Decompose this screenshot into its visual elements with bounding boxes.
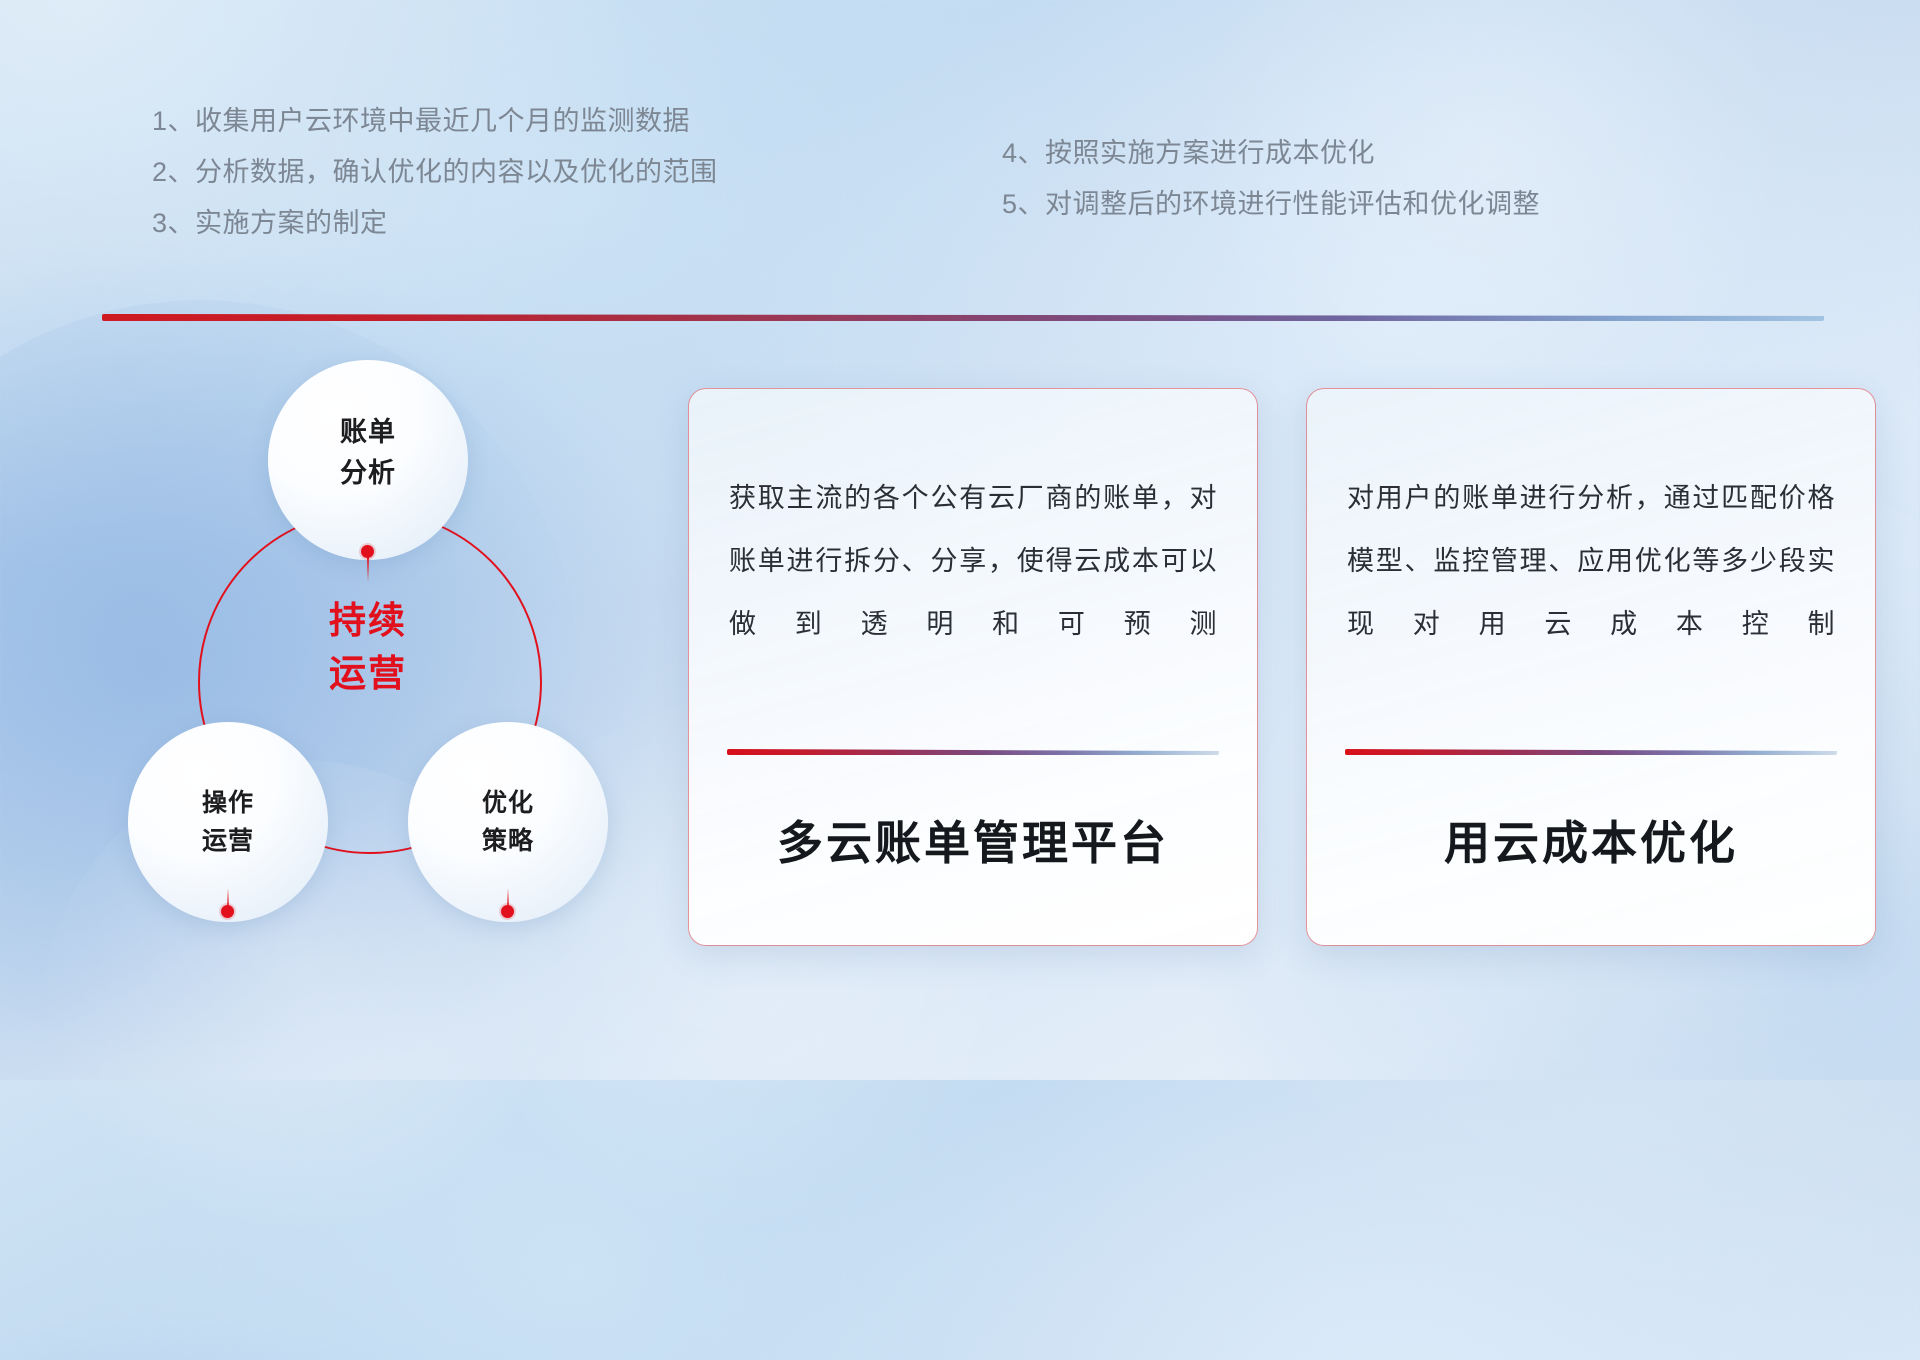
step-item-4: 4、按照实施方案进行成本优化 [1002, 128, 1540, 179]
node-label-line2: 运营 [202, 822, 254, 860]
card-cloud-cost-optimization[interactable]: 对用户的账单进行分析，通过匹配价格模型、监控管理、应用优化等多少段实现对用云成本… [1306, 388, 1876, 946]
node-label-line1: 操作 [202, 784, 254, 822]
node-label-line1: 优化 [482, 784, 534, 822]
steps-section: 1、收集用户云环境中最近几个月的监测数据 2、分析数据，确认优化的内容以及优化的… [0, 96, 1920, 246]
card-body-text: 对用户的账单进行分析，通过匹配价格模型、监控管理、应用优化等多少段实现对用云成本… [1347, 467, 1835, 656]
step-item-1: 1、收集用户云环境中最近几个月的监测数据 [152, 96, 718, 147]
diagram-node-label-bill-analysis: 账单 分析 [268, 378, 468, 528]
diagram-junction-dot-bottom-left [221, 905, 234, 918]
diagram-node-label-operation: 操作 运营 [128, 750, 328, 894]
node-label-line1: 账单 [340, 412, 396, 453]
card-divider [1345, 749, 1837, 755]
step-item-3: 3、实施方案的制定 [152, 198, 718, 249]
card-divider [727, 749, 1219, 755]
step-item-5: 5、对调整后的环境进行性能评估和优化调整 [1002, 179, 1540, 230]
card-multi-cloud-bill-platform[interactable]: 获取主流的各个公有云厂商的账单，对账单进行拆分、分享，使得云成本可以做到透明和可… [688, 388, 1258, 946]
section-divider [102, 314, 1824, 321]
diagram-node-label-optimization-strategy: 优化 策略 [408, 750, 608, 894]
step-item-2: 2、分析数据，确认优化的内容以及优化的范围 [152, 147, 718, 198]
card-body-text: 获取主流的各个公有云厂商的账单，对账单进行拆分、分享，使得云成本可以做到透明和可… [729, 467, 1217, 656]
diagram-center-label: 持续 运营 [268, 582, 468, 712]
continuous-operation-diagram: 持续 运营 账单 分析 操作 运营 优化 策略 [96, 360, 616, 930]
node-label-line2: 分析 [340, 453, 396, 494]
diagram-connector-top [367, 556, 369, 582]
diagram-junction-dot-bottom-right [501, 905, 514, 918]
steps-column-right: 4、按照实施方案进行成本优化 5、对调整后的环境进行性能评估和优化调整 [1002, 128, 1540, 230]
diagram-center-label-line2: 运营 [329, 647, 407, 700]
steps-column-left: 1、收集用户云环境中最近几个月的监测数据 2、分析数据，确认优化的内容以及优化的… [152, 96, 718, 249]
card-title: 多云账单管理平台 [689, 807, 1257, 873]
node-label-line2: 策略 [482, 822, 534, 860]
diagram-center-label-line1: 持续 [329, 594, 407, 647]
diagram-junction-dot-top [361, 545, 374, 558]
card-title: 用云成本优化 [1307, 807, 1875, 873]
